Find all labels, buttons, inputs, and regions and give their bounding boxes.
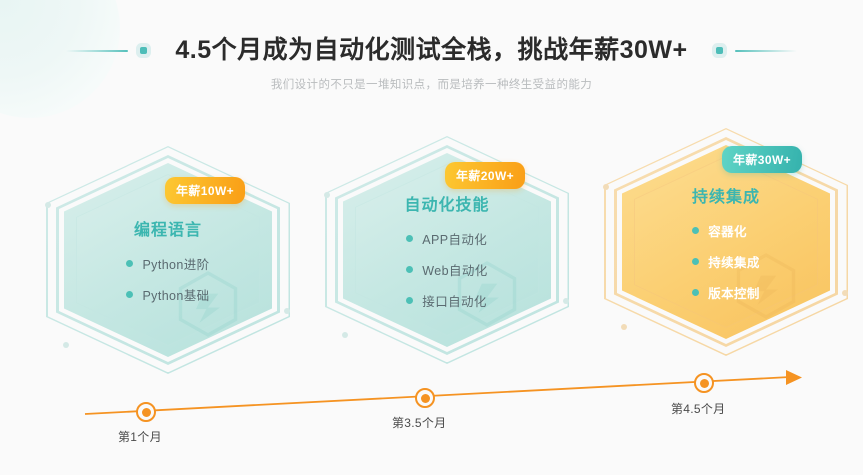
timeline-marker-2[interactable] [415,388,435,408]
timeline-marker-1[interactable] [136,402,156,422]
timeline-marker-3[interactable] [694,373,714,393]
list-item-label: APP自动化 [422,229,487,248]
list-item: Python进阶 [126,254,209,273]
list-item-label: 接口自动化 [422,291,487,310]
title-row: 4.5个月成为自动化测试全栈，挑战年薪30W+ [0,38,863,63]
stage-item-list-1: Python进阶 Python基础 [126,254,209,304]
bullet-dot-icon [406,297,413,304]
list-item: APP自动化 [406,229,487,248]
list-item-label: Python进阶 [142,254,209,273]
stage-title-2: 自动化技能 [404,191,489,215]
infographic-canvas: 4.5个月成为自动化测试全栈，挑战年薪30W+ 我们设计的不只是一堆知识点，而是… [0,0,863,475]
arrow-right-icon [786,370,802,385]
list-item: 容器化 [692,221,760,240]
bullet-dot-icon [692,258,699,265]
header: 4.5个月成为自动化测试全栈，挑战年薪30W+ 我们设计的不只是一堆知识点，而是… [0,38,863,92]
salary-badge-3[interactable]: 年薪30W+ [722,146,802,173]
timeline-label-2: 第3.5个月 [392,414,446,431]
bullet-dot-icon [692,289,699,296]
stage-title-1: 编程语言 [134,216,202,240]
list-item: 接口自动化 [406,291,487,310]
list-item: Python基础 [126,285,209,304]
list-item: Web自动化 [406,260,487,279]
list-item: 版本控制 [692,283,760,302]
square-dot-right-icon [716,47,723,54]
bullet-dot-icon [126,260,133,267]
page-subtitle: 我们设计的不只是一堆知识点，而是培养一种终生受益的能力 [0,76,863,92]
stage-item-list-3: 容器化 持续集成 版本控制 [692,221,760,302]
gradient-line-left-icon [66,50,128,52]
list-item-label: 容器化 [708,221,747,240]
bullet-dot-icon [692,227,699,234]
salary-badge-2[interactable]: 年薪20W+ [445,162,525,189]
bullet-dot-icon [406,235,413,242]
marker-core-icon [421,394,430,403]
marker-core-icon [142,408,151,417]
bullet-dot-icon [406,266,413,273]
list-item-label: Python基础 [142,285,209,304]
list-item-label: 持续集成 [708,252,760,271]
timeline-label-1: 第1个月 [118,428,162,445]
timeline-label-3: 第4.5个月 [671,400,725,417]
list-item-label: Web自动化 [422,260,487,279]
page-title: 4.5个月成为自动化测试全栈，挑战年薪30W+ [175,38,687,63]
stage-title-3: 持续集成 [692,183,760,207]
stage-item-list-2: APP自动化 Web自动化 接口自动化 [406,229,487,310]
square-dot-left-icon [140,47,147,54]
list-item-label: 版本控制 [708,283,760,302]
bullet-dot-icon [126,291,133,298]
gradient-line-right-icon [735,50,797,52]
salary-badge-1[interactable]: 年薪10W+ [165,177,245,204]
list-item: 持续集成 [692,252,760,271]
marker-core-icon [700,379,709,388]
